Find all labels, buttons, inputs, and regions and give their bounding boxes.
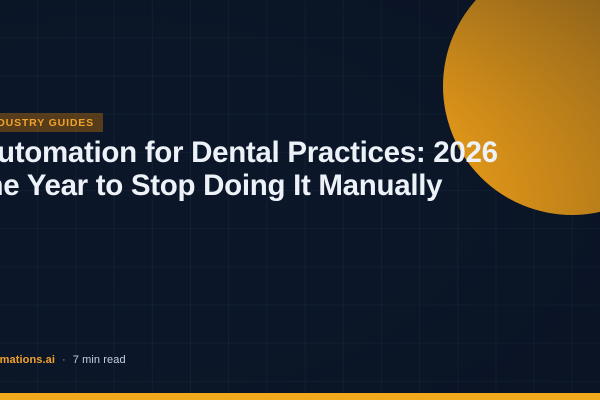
article-meta: automations.ai · 7 min read [0,354,126,366]
category-badge[interactable]: INDUSTRY GUIDES [0,113,103,132]
meta-separator-dot: · [62,355,66,366]
page-title-line-2: the Year to Stop Doing It Manually [0,169,600,202]
page-title-line-1: Automation for Dental Practices: 2026 [0,136,600,169]
brand-label[interactable]: automations.ai [0,354,55,366]
blog-hero-card: INDUSTRY GUIDES Automation for Dental Pr… [0,0,600,400]
read-time-label: 7 min read [73,354,126,366]
bottom-accent-bar [0,393,600,400]
page-title: Automation for Dental Practices: 2026 th… [0,136,600,202]
hero-content: INDUSTRY GUIDES Automation for Dental Pr… [0,0,600,400]
